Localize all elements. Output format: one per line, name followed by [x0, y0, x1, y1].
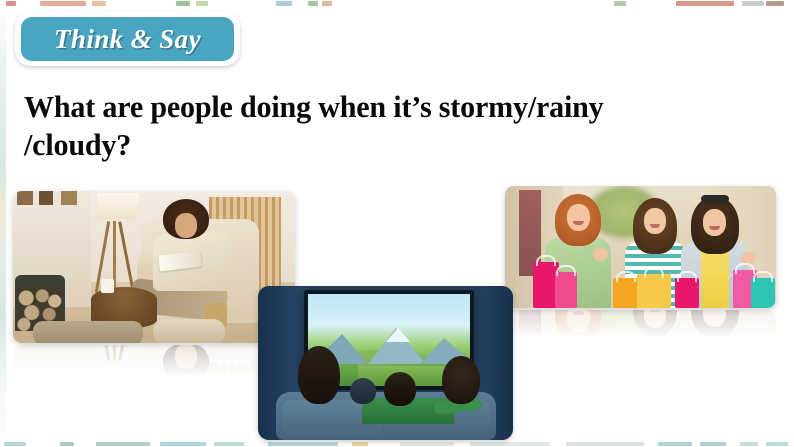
photo-woman-reading-in-armchair[interactable] [13, 191, 295, 343]
tripod-lamp-icon [97, 363, 139, 389]
ribbon-chip [6, 1, 16, 6]
page-title: What are people doing when it’s stormy/r… [24, 88, 742, 164]
photo-3-scene [258, 286, 513, 440]
ribbon-chip [322, 1, 332, 6]
slide-strip-chip [566, 442, 644, 446]
shopping-bag [675, 278, 699, 308]
ribbon-chip [676, 1, 734, 6]
sunglasses-icon [701, 195, 729, 203]
slide-strip-chip [268, 442, 338, 446]
shopping-bag [555, 272, 577, 308]
slide-strip-chip [160, 442, 206, 446]
ribbon-chip [308, 1, 318, 6]
slide-strip-chip [700, 442, 726, 446]
ribbon-chip [276, 1, 292, 6]
photo-2-reflection [505, 310, 776, 350]
badge-label: Think & Say [54, 24, 201, 55]
slide-strip-chip [96, 442, 150, 446]
heading-line-2: /cloudy? [24, 127, 131, 162]
think-and-say-badge[interactable]: Think & Say [15, 12, 240, 66]
shopping-bag [751, 278, 775, 308]
shopping-bag [637, 274, 671, 308]
tripod-lamp-icon [97, 193, 139, 219]
slide-strip-chip [470, 442, 550, 446]
photo-three-women-shopping[interactable] [505, 186, 776, 308]
photo-family-watching-tv[interactable] [258, 286, 513, 440]
left-adjacent-slide-sliver [0, 9, 6, 447]
slide-strip-chip [4, 442, 26, 446]
photo-1-scene [13, 191, 295, 343]
bottom-adjacent-slide-sliver [0, 440, 794, 447]
person-head [350, 378, 376, 404]
mug-icon [101, 279, 114, 293]
shopping-bag [613, 278, 639, 308]
slide-canvas: Think & Say What are people doing when i… [0, 0, 794, 447]
slide-strip-chip [60, 442, 74, 446]
badge-pill: Think & Say [21, 17, 234, 61]
person-head [442, 356, 480, 404]
wall-picture-frames [17, 377, 89, 391]
top-ribbon-strip [0, 0, 794, 9]
heading-line-1: What are people doing when it’s stormy/r… [24, 89, 604, 124]
slide-strip-chip [400, 442, 454, 446]
ribbon-chip [742, 1, 764, 6]
slide-strip-chip [658, 442, 692, 446]
ribbon-chip [176, 1, 190, 6]
person-head [298, 346, 340, 404]
armchair [141, 345, 259, 363]
ribbon-chip [614, 1, 626, 6]
slide-strip-chip [352, 442, 368, 446]
ribbon-chip [196, 1, 208, 6]
slide-strip-chip [766, 442, 788, 446]
ribbon-chip [40, 1, 86, 6]
slide-strip-chip [214, 442, 244, 446]
photo-1-reflection [13, 345, 295, 391]
sunglasses-icon [701, 333, 729, 341]
slide-strip-chip [740, 442, 758, 446]
person-head [384, 372, 416, 406]
ribbon-chip [92, 1, 106, 6]
ribbon-chip [766, 1, 784, 6]
photo-2-scene [505, 186, 776, 308]
wall-picture-frames [17, 191, 89, 205]
